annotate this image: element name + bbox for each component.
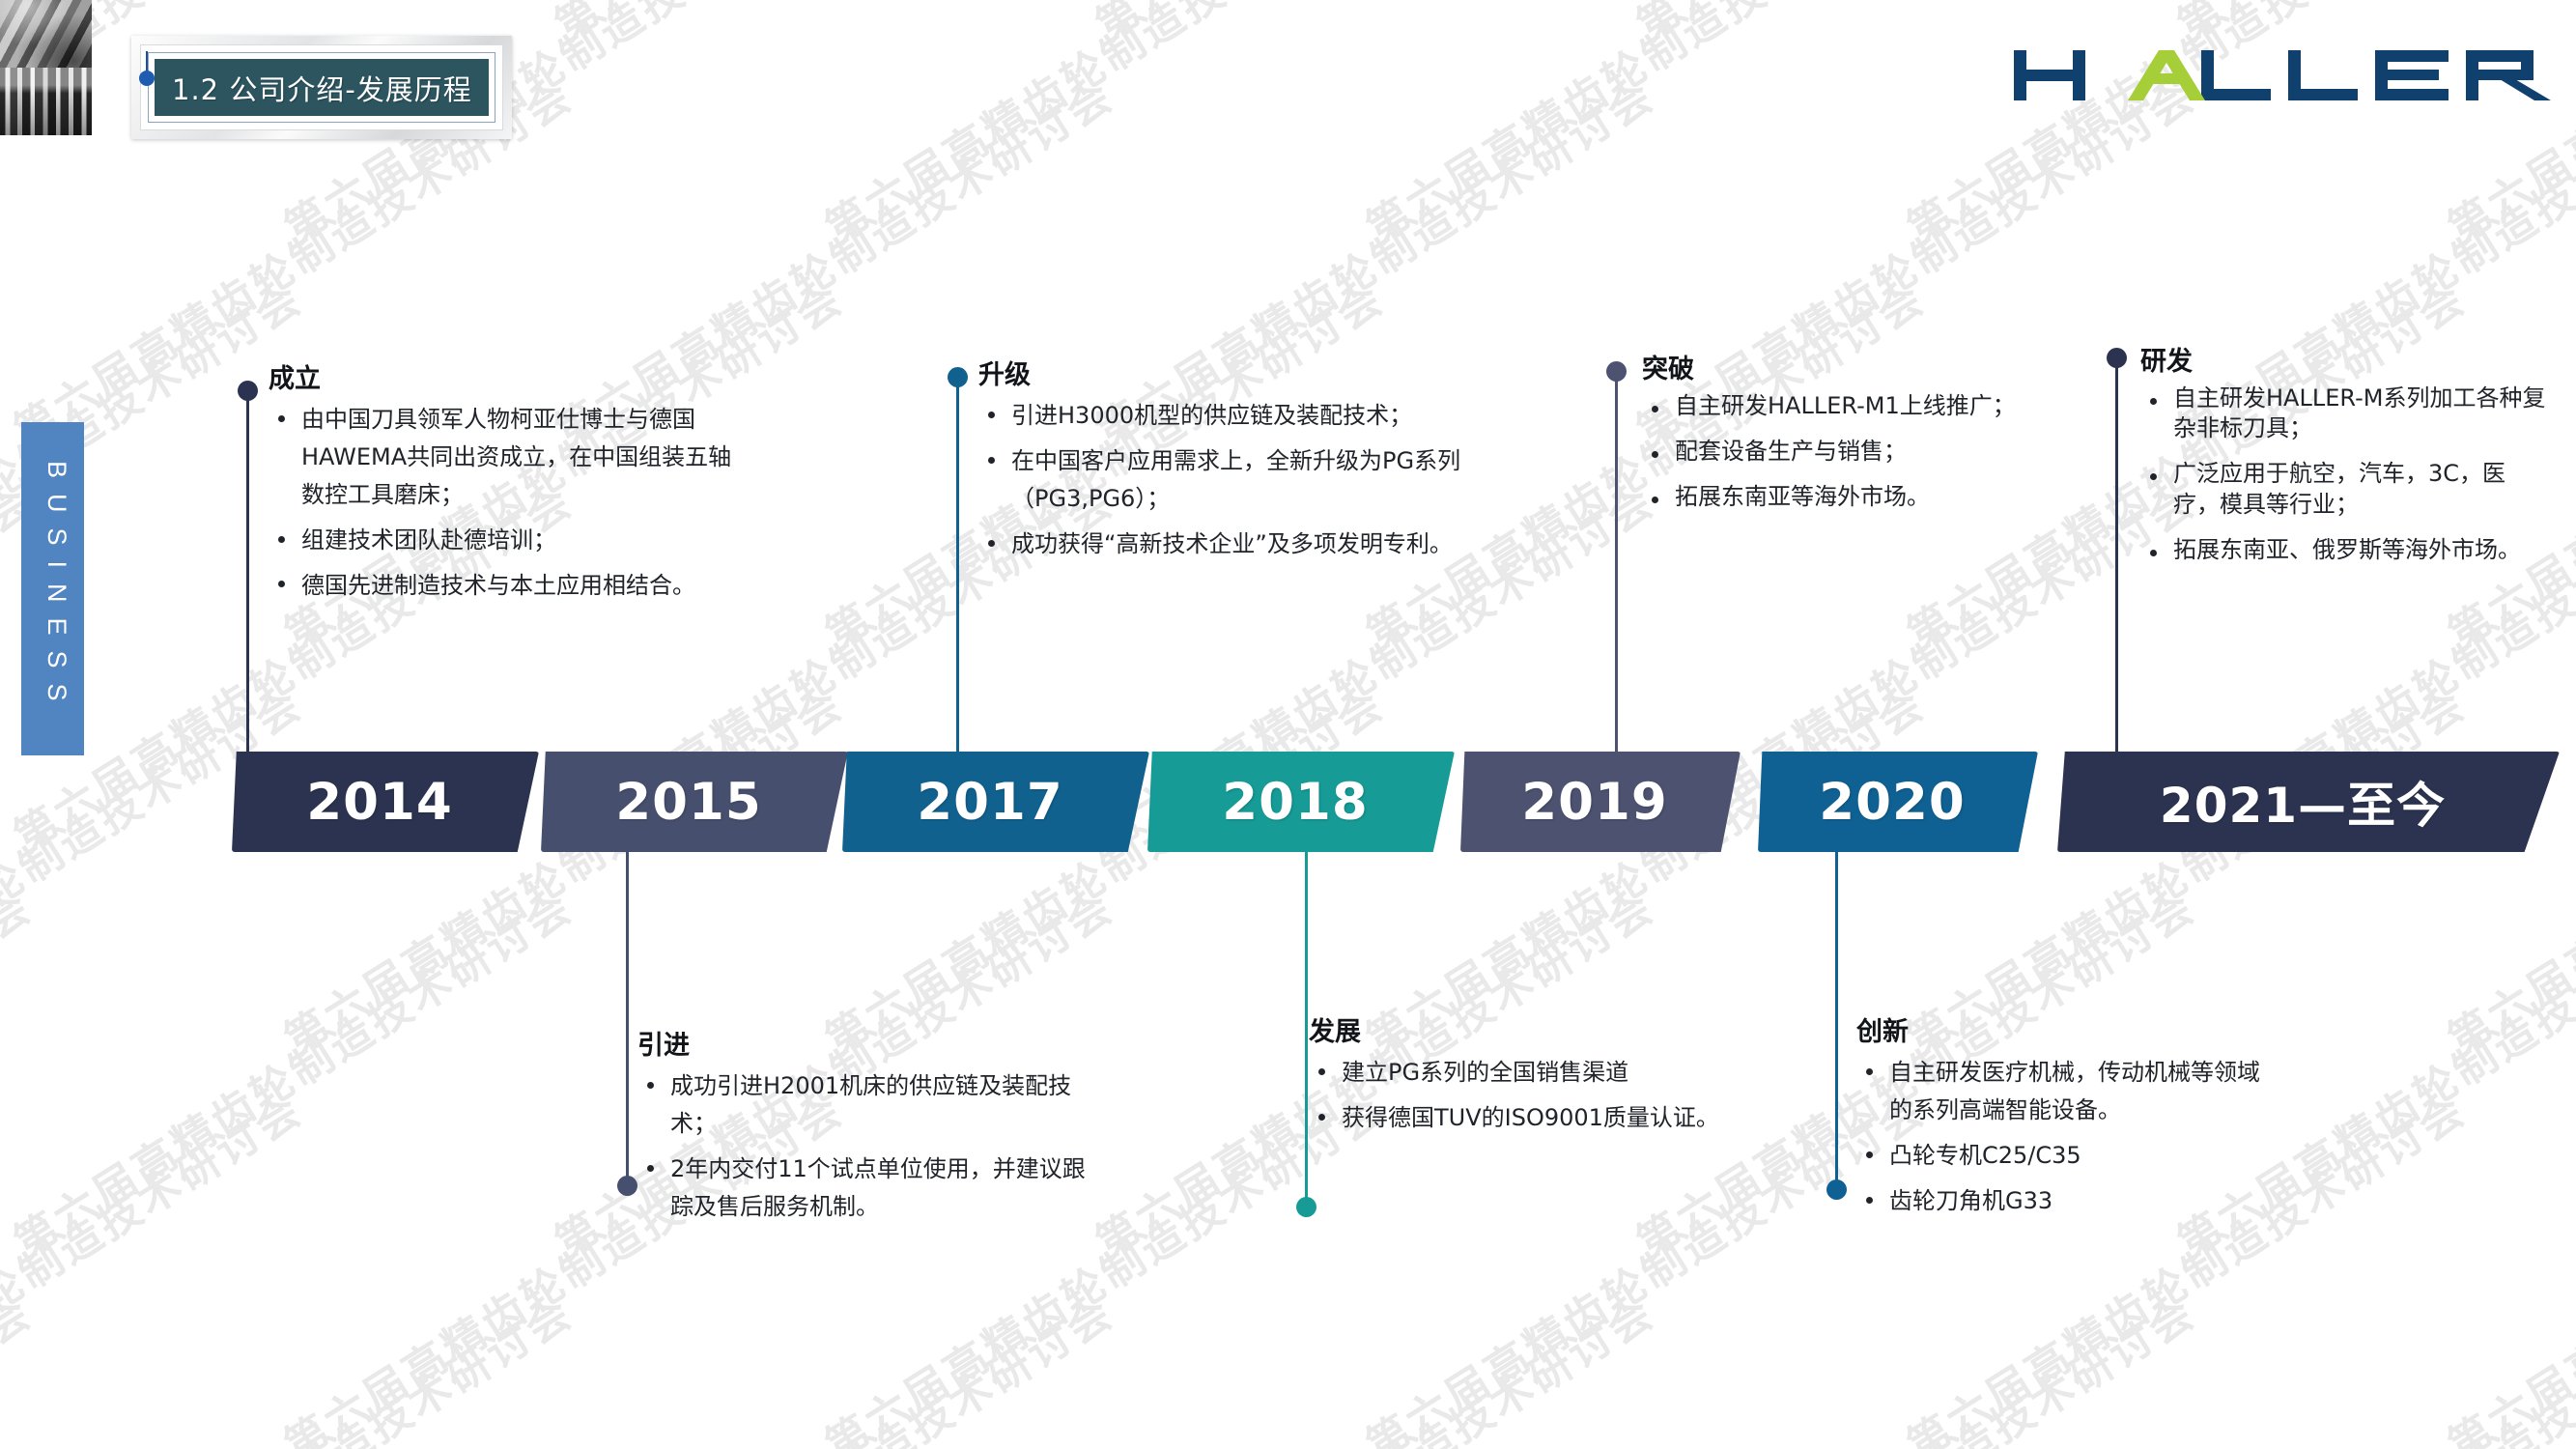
timeline-year-2017[interactable]: 2017 [842,752,1149,852]
entry-bullet: 建立PG系列的全国销售渠道 [1309,1054,1763,1092]
timeline-year-2018[interactable]: 2018 [1147,752,1455,852]
entry-bullet-list: 成功引进H2001机床的供应链及装配技术；2年内交付11个试点单位使用，并建议跟… [637,1067,1101,1226]
page-title: 1.2 公司介绍-发展历程 [155,68,472,108]
entry-bullet: 自主研发HALLER-M系列加工各种复杂非标刀具； [2140,384,2546,443]
year-label: 2020 [1819,773,1966,832]
year-label: 2019 [1521,773,1668,832]
entry-bullet: 德国先进制造技术与本土应用相结合。 [269,567,751,605]
timeline-entry: 发展建立PG系列的全国销售渠道获得德国TUV的ISO9001质量认证。 [1309,1010,1763,1145]
slide-title-plaque: 1.2 公司介绍-发展历程 [131,36,512,139]
year-label: 2021—至今 [2160,767,2446,837]
business-sidebar: BUSINESS [21,422,84,755]
entry-heading: 发展 [1309,1010,1763,1048]
entry-heading: 引进 [637,1024,1101,1062]
timeline-connector-dot [238,381,258,401]
timeline: 2014成立由中国刀具领军人物柯亚仕博士与德国HAWEMA共同出资成立，在中国组… [0,0,2576,1449]
timeline-year-2019[interactable]: 2019 [1460,752,1741,852]
entry-bullet-list: 由中国刀具领军人物柯亚仕博士与德国HAWEMA共同出资成立，在中国组装五轴数控工… [269,401,751,604]
haller-logo [2012,31,2553,118]
timeline-connector-dot [2107,348,2127,368]
year-label: 2017 [917,773,1063,832]
entry-heading: 创新 [1856,1010,2272,1048]
timeline-entry: 升级引进H3000机型的供应链及装配技术；在中国客户应用需求上，全新升级为PG系… [978,354,1481,571]
entry-heading: 升级 [978,354,1481,391]
entry-heading: 突破 [1642,348,2028,385]
timeline-entry: 成立由中国刀具领军人物柯亚仕博士与德国HAWEMA共同出资成立，在中国组装五轴数… [269,357,751,611]
timeline-connector-dot [617,1176,637,1196]
slide-canvas: 第六届高精齿轮制造技术研讨会第六届高精齿轮制造技术研讨会第六届高精齿轮制造技术研… [0,0,2576,1449]
entry-bullet: 组建技术团队赴德培训； [269,522,751,559]
entry-bullet: 凸轮专机C25/C35 [1856,1137,2272,1175]
timeline-connector-dot [1606,361,1627,382]
timeline-connector [246,390,249,752]
entry-heading: 研发 [2140,340,2546,378]
entry-bullet: 2年内交付11个试点单位使用，并建议跟踪及售后服务机制。 [637,1151,1101,1226]
entry-bullet-list: 自主研发HALLER-M系列加工各种复杂非标刀具；广泛应用于航空，汽车，3C，医… [2140,384,2546,565]
entry-bullet-list: 自主研发医疗机械，传动机械等领域的系列高端智能设备。凸轮专机C25/C35齿轮刀… [1856,1054,2272,1220]
entry-bullet-list: 自主研发HALLER-M1上线推广；配套设备生产与销售；拓展东南亚等海外市场。 [1642,391,2028,513]
entry-bullet: 引进H3000机型的供应链及装配技术； [978,397,1481,435]
timeline-entry: 引进成功引进H2001机床的供应链及装配技术；2年内交付11个试点单位使用，并建… [637,1024,1101,1234]
entry-bullet: 自主研发医疗机械，传动机械等领域的系列高端智能设备。 [1856,1054,2272,1129]
gear-photo-stack [0,0,92,135]
timeline-connector [956,377,959,752]
timeline-connector [626,852,629,1186]
timeline-entry: 创新自主研发医疗机械，传动机械等领域的系列高端智能设备。凸轮专机C25/C35齿… [1856,1010,2272,1228]
entry-bullet-list: 引进H3000机型的供应链及装配技术；在中国客户应用需求上，全新升级为PG系列（… [978,397,1481,563]
entry-bullet: 自主研发HALLER-M1上线推广； [1642,391,2028,421]
entry-heading: 成立 [269,357,751,395]
timeline-entry: 突破自主研发HALLER-M1上线推广；配套设备生产与销售；拓展东南亚等海外市场… [1642,348,2028,528]
entry-bullet: 广泛应用于航空，汽车，3C，医疗，模具等行业； [2140,459,2546,519]
timeline-year-2020[interactable]: 2020 [1758,752,2038,852]
sidebar-label: BUSINESS [42,461,71,717]
entry-bullet: 成功引进H2001机床的供应链及装配技术； [637,1067,1101,1143]
entry-bullet: 拓展东南亚、俄罗斯等海外市场。 [2140,535,2546,565]
entry-bullet: 获得德国TUV的ISO9001质量认证。 [1309,1099,1763,1137]
entry-bullet: 拓展东南亚等海外市场。 [1642,482,2028,512]
year-label: 2018 [1222,773,1369,832]
entry-bullet: 配套设备生产与销售； [1642,437,2028,467]
timeline-connector [2115,357,2118,752]
entry-bullet: 在中国客户应用需求上，全新升级为PG系列（PG3,PG6）； [978,442,1481,518]
timeline-connector [1835,852,1838,1190]
timeline-connector-dot [1296,1197,1316,1217]
entry-bullet: 齿轮刀角机G33 [1856,1182,2272,1220]
timeline-connector-dot [1826,1179,1847,1200]
timeline-connector [1615,371,1618,752]
entry-bullet: 由中国刀具领军人物柯亚仕博士与德国HAWEMA共同出资成立，在中国组装五轴数控工… [269,401,751,514]
gear-photo-bottom [0,68,92,135]
timeline-year-2015[interactable]: 2015 [541,752,848,852]
entry-bullet: 成功获得“高新技术企业”及多项发明专利。 [978,526,1481,563]
year-label: 2015 [615,773,762,832]
timeline-connector [1305,852,1308,1207]
timeline-year-2014[interactable]: 2014 [232,752,539,852]
year-label: 2014 [306,773,453,832]
gear-photo-top [0,0,92,68]
timeline-connector-dot [948,367,968,387]
entry-bullet-list: 建立PG系列的全国销售渠道获得德国TUV的ISO9001质量认证。 [1309,1054,1763,1137]
timeline-year-2021[interactable]: 2021—至今 [2057,752,2560,852]
timeline-entry: 研发自主研发HALLER-M系列加工各种复杂非标刀具；广泛应用于航空，汽车，3C… [2140,340,2546,581]
